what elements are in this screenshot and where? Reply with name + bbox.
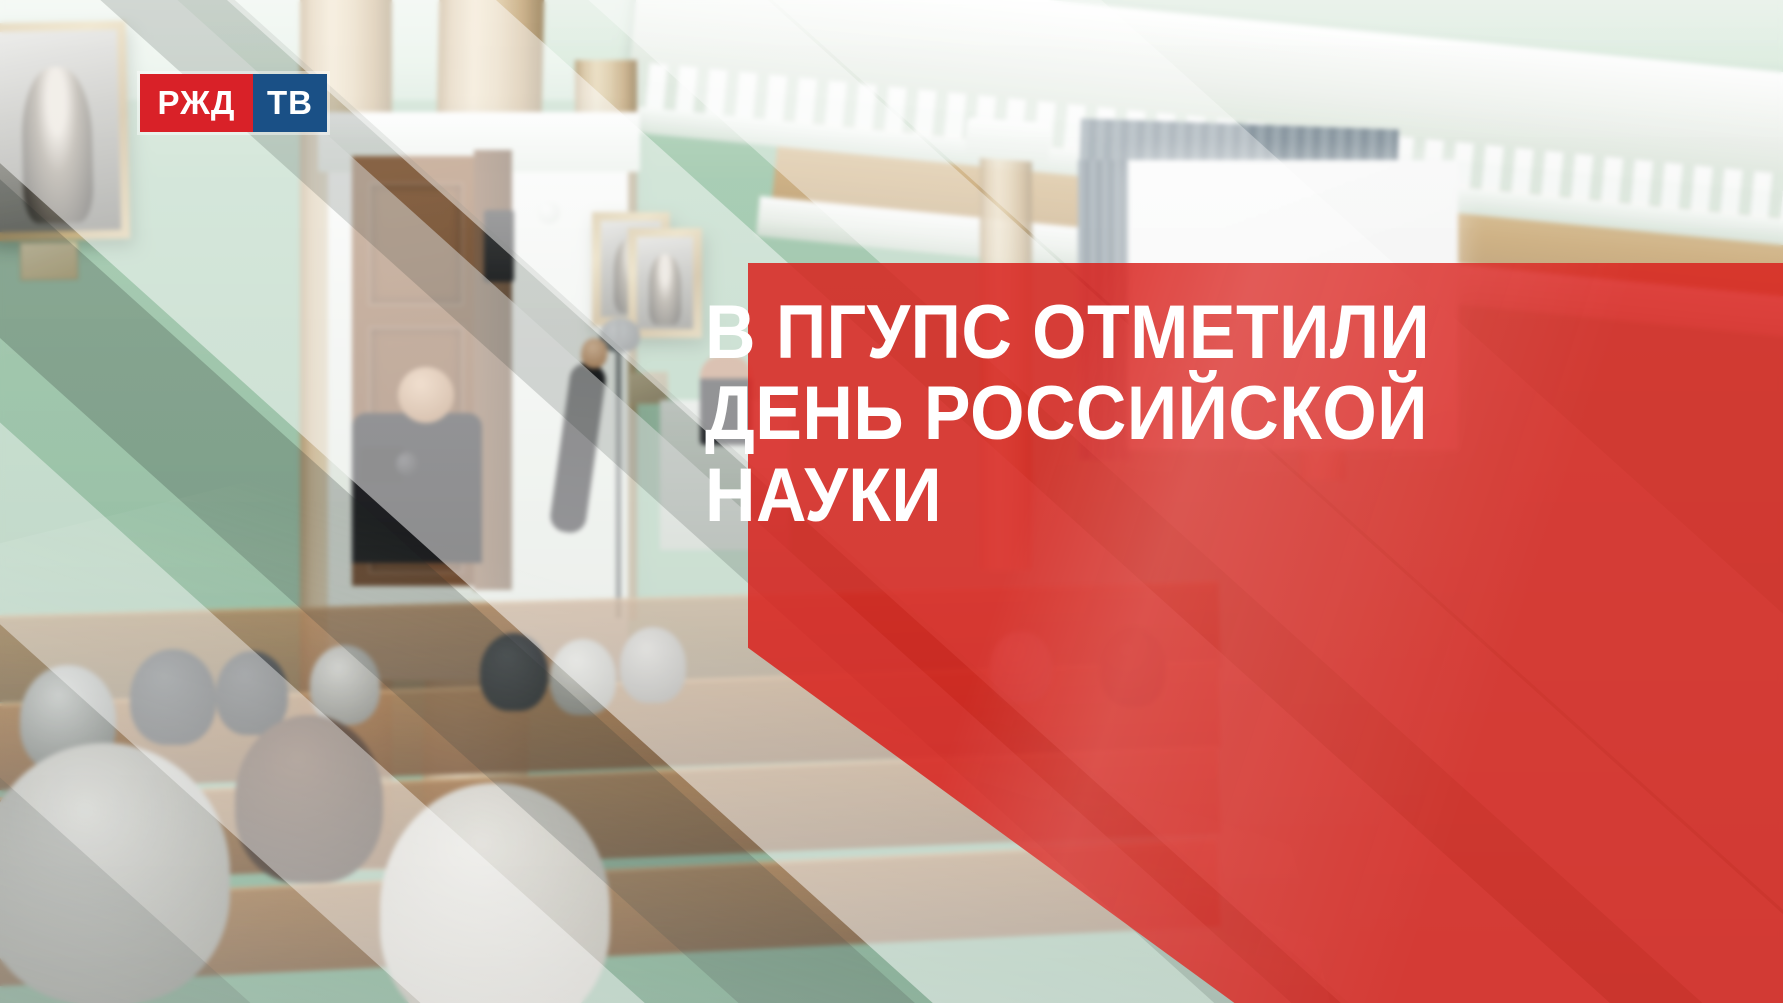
audience-head: [130, 649, 216, 745]
broadcast-frame: РЖД ТВ В ПГУПС ОТМЕТИЛИ ДЕНЬ РОССИЙСКОЙ …: [0, 0, 1783, 1003]
headline-line-1: В ПГУПС ОТМЕТИЛИ: [705, 292, 1386, 373]
door-panel: [368, 182, 464, 306]
headline-line-3: НАУКИ: [705, 455, 1386, 536]
channel-logo-rzd: РЖД: [140, 74, 253, 132]
channel-logo-tv: ТВ: [253, 74, 327, 132]
audience-head: [310, 645, 380, 725]
headline: В ПГУПС ОТМЕТИЛИ ДЕНЬ РОССИЙСКОЙ НАУКИ: [705, 292, 1386, 536]
photographer-figure: [352, 413, 482, 563]
audience-head: [480, 633, 548, 711]
wall-portrait-small-2: [628, 228, 702, 338]
wall-plaque: [20, 241, 79, 280]
microphone-stand: [616, 318, 621, 618]
channel-logo: РЖД ТВ: [140, 74, 327, 132]
wall-lamp: [538, 202, 560, 224]
wall-speaker: [484, 210, 514, 282]
audience-head: [620, 627, 686, 703]
camera: [360, 447, 404, 483]
headline-line-2: ДЕНЬ РОССИЙСКОЙ: [705, 373, 1386, 454]
audience-head: [235, 715, 383, 883]
column-capital-1: [965, 117, 1052, 163]
audience-head: [550, 639, 616, 715]
wall-portrait-large: [0, 21, 130, 242]
